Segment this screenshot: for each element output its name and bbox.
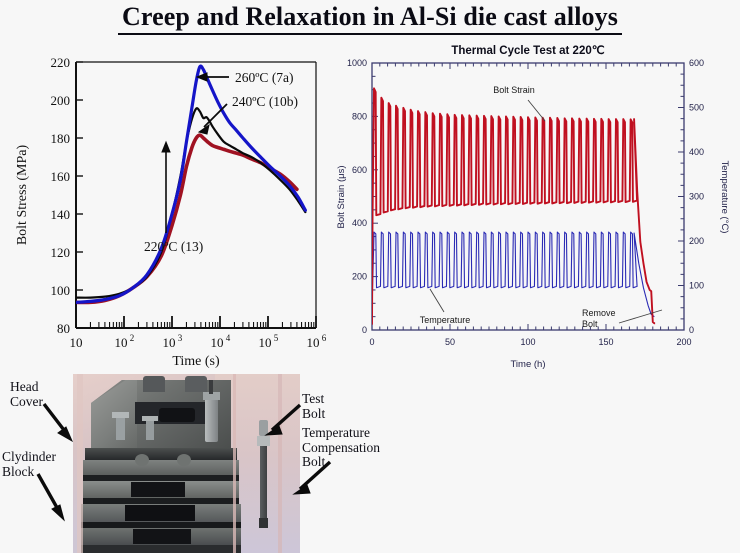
therm-ytick-r-600: 600 — [689, 58, 704, 68]
creep-xexp-6: 6 — [322, 333, 327, 343]
therm-ytick-r-0: 0 — [689, 325, 694, 335]
thermal-annotation-leaders — [430, 100, 662, 323]
callout-head-cover: Head Cover — [10, 380, 43, 409]
creep-y-axis-title: Bolt Stress (MPa) — [15, 144, 30, 245]
creep-xexp-3: 3 — [178, 333, 183, 343]
therm-xtick-200: 200 — [676, 337, 691, 347]
series-240C — [76, 108, 305, 297]
thermal-y-axis-title-right: Temperature (°C) — [719, 161, 730, 234]
label-remove-bolt-line1: Remove — [582, 308, 616, 318]
therm-ytick-l-400: 400 — [352, 218, 367, 228]
therm-ytick-r-300: 300 — [689, 192, 704, 202]
therm-ytick-r-400: 400 — [689, 147, 704, 157]
creep-xexp-2: 2 — [130, 333, 135, 343]
page-title: Creep and Relaxation in Al-Si die cast a… — [118, 2, 622, 35]
therm-ytick-r-100: 100 — [689, 281, 704, 291]
creep-x-tick-labels: 10 10 10 10 10 10 2 3 4 5 6 — [70, 333, 327, 350]
label-temperature: Temperature — [420, 315, 471, 325]
creep-ytick-140: 140 — [51, 207, 71, 222]
therm-xtick-150: 150 — [598, 337, 613, 347]
therm-xtick-50: 50 — [445, 337, 455, 347]
label-220C: 220ºC (13) — [144, 239, 203, 254]
creep-x-major-ticks — [76, 316, 316, 328]
creep-ytick-160: 160 — [51, 169, 71, 184]
therm-ytick-l-800: 800 — [352, 111, 367, 121]
creep-xtick-10: 10 — [70, 335, 83, 350]
thermal-cycle-chart: Thermal Cycle Test at 220℃ 0 200 400 600… — [332, 40, 738, 380]
creep-relaxation-chart: 80 100 120 140 160 180 200 220 — [4, 48, 334, 368]
creep-chart-svg: 80 100 120 140 160 180 200 220 — [4, 48, 334, 368]
thermal-ytick-labels-left: 0 200 400 600 800 1000 — [347, 58, 367, 335]
callout-test-bolt: Test Bolt — [302, 392, 325, 421]
thermal-ytick-labels-right: 0 100 200 300 400 500 600 — [689, 58, 704, 335]
creep-y-tick-labels: 80 100 120 140 160 180 200 220 — [51, 55, 71, 336]
creep-xtick-1e3: 10 — [163, 335, 176, 350]
label-240C: 240ºC (10b) — [232, 94, 298, 109]
creep-xtick-1e2: 10 — [115, 335, 128, 350]
therm-ytick-l-600: 600 — [352, 165, 367, 175]
thermal-xtick-labels: 0 50 100 150 200 — [369, 337, 691, 347]
thermal-chart-title: Thermal Cycle Test at 220℃ — [451, 44, 604, 57]
therm-ytick-l-1000: 1000 — [347, 58, 367, 68]
creep-xtick-1e4: 10 — [211, 335, 224, 350]
label-bolt-strain: Bolt Strain — [493, 85, 535, 95]
label-260C: 260ºC (7a) — [235, 70, 294, 85]
thermal-chart-svg: Thermal Cycle Test at 220℃ 0 200 400 600… — [332, 40, 738, 380]
creep-ytick-80: 80 — [57, 321, 70, 336]
series-bolt-strain — [372, 88, 655, 324]
thermal-x-axis-title: Time (h) — [510, 359, 545, 370]
creep-xtick-1e6: 10 — [307, 335, 320, 350]
therm-xtick-100: 100 — [520, 337, 535, 347]
therm-ytick-l-0: 0 — [362, 325, 367, 335]
creep-ytick-100: 100 — [51, 283, 71, 298]
creep-x-axis-title: Time (s) — [172, 354, 220, 368]
therm-ytick-r-200: 200 — [689, 236, 704, 246]
thermal-series-group — [372, 88, 655, 324]
callout-cylinder-block: Clydinder Block — [2, 450, 56, 479]
thermal-y-axis-title-left: Bolt Strain (μs) — [336, 165, 347, 228]
therm-xtick-0: 0 — [369, 337, 374, 347]
creep-ytick-200: 200 — [51, 93, 71, 108]
engine-cylinder-head-figure: Head Cover Clydinder Block Test Bolt Tem… — [0, 372, 400, 553]
creep-y-ticks — [76, 62, 83, 328]
callout-temp-comp-bolt: Temperature Compensation Bolt — [302, 426, 380, 470]
creep-ytick-120: 120 — [51, 245, 71, 260]
therm-ytick-r-500: 500 — [689, 103, 704, 113]
creep-xexp-5: 5 — [274, 333, 279, 343]
slide-page: Creep and Relaxation in Al-Si die cast a… — [0, 0, 740, 553]
therm-ytick-l-200: 200 — [352, 272, 367, 282]
creep-xtick-1e5: 10 — [259, 335, 272, 350]
creep-ytick-180: 180 — [51, 131, 71, 146]
label-remove-bolt-line2: Bolt — [582, 319, 598, 329]
creep-ytick-220: 220 — [51, 55, 71, 70]
title-bar: Creep and Relaxation in Al-Si die cast a… — [0, 2, 740, 35]
engine-cylinder-head-photo — [73, 374, 300, 553]
creep-xexp-4: 4 — [226, 333, 231, 343]
